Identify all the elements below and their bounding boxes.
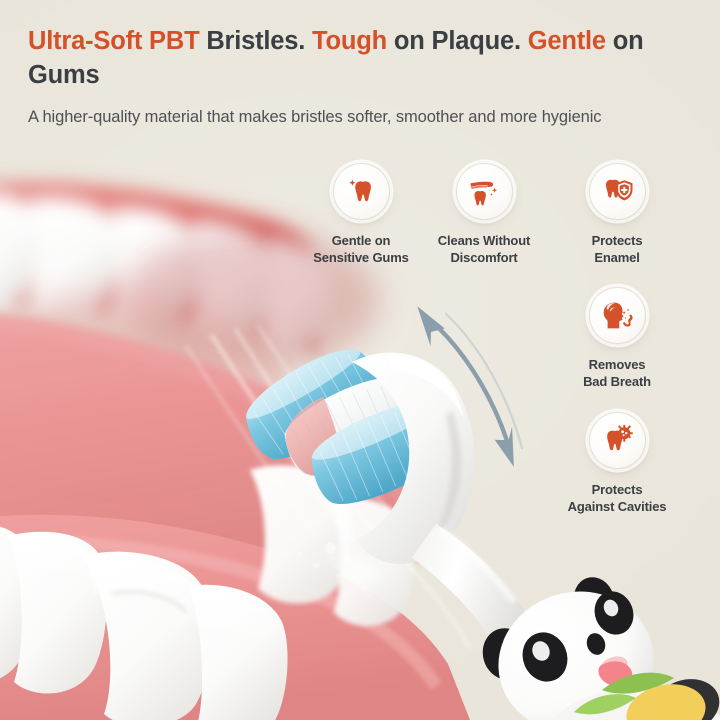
- headline-segment-0: Ultra-Soft PBT: [28, 27, 206, 55]
- benefit-badge-cleans-without-discomfort[interactable]: Cleans Without Discomfort: [418, 163, 550, 267]
- headline-segment-3: on Plaque.: [394, 27, 528, 55]
- benefit-badge-label: Removes Bad Breath: [551, 356, 683, 391]
- tooth-sparkle-icon: [333, 163, 390, 220]
- headline-segment-2: Tough: [312, 27, 394, 55]
- benefit-badge-removes-bad-breath[interactable]: Removes Bad Breath: [551, 287, 683, 391]
- benefit-badge-label: Protects Against Cavities: [551, 481, 683, 516]
- page-subtitle: A higher-quality material that makes bri…: [28, 105, 643, 129]
- tooth-germ-icon: [589, 412, 646, 469]
- benefit-badge-protects-against-cavities[interactable]: Protects Against Cavities: [551, 412, 683, 516]
- headline-segment-4: Gentle: [528, 27, 613, 55]
- benefit-badge-label: Protects Enamel: [551, 232, 683, 267]
- benefit-badge-gentle-on-sensitive-gums[interactable]: Gentle on Sensitive Gums: [295, 163, 427, 267]
- header-block: Ultra-Soft PBT Bristles. Tough on Plaque…: [28, 24, 668, 129]
- panda-toothbrush-handle: [477, 572, 720, 720]
- headline-segment-1: Bristles.: [206, 27, 312, 55]
- page-title: Ultra-Soft PBT Bristles. Tough on Plaque…: [28, 24, 668, 92]
- infographic-canvas: Ultra-Soft PBT Bristles. Tough on Plaque…: [0, 0, 720, 720]
- benefit-badge-label: Gentle on Sensitive Gums: [295, 232, 427, 267]
- toothbrush-tooth-icon: [456, 163, 513, 220]
- tooth-shield-icon: [589, 163, 646, 220]
- fresh-breath-head-icon: [589, 287, 646, 344]
- benefit-badge-protects-enamel[interactable]: Protects Enamel: [551, 163, 683, 267]
- benefit-badge-label: Cleans Without Discomfort: [418, 232, 550, 267]
